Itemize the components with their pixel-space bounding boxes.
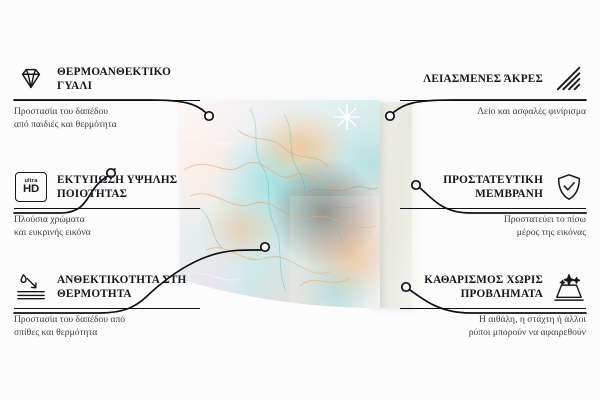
feature-title: ΑΝΘΕΚΤΙΚΟΤΗΤΑ ΣΤΗ ΘΕΡΜΟΤΗΤΑ bbox=[57, 273, 200, 301]
feature-header: ultra HD ΕΚΤΥΠΩΣΗ ΥΨΗΛΗΣ ΠΟΙΟΤΗΤΑΣ bbox=[14, 170, 200, 204]
feature-header: ΚΑΘΑΡΙΣΜΟΣ ΧΩΡΙΣ ΠΡΟΒΛΗΜΑΤΑ bbox=[400, 270, 586, 304]
feature-subtitle: Λείο και ασφαλές φινίρισμα bbox=[400, 106, 586, 119]
feature-header: ΑΝΘΕΚΤΙΚΟΤΗΤΑ ΣΤΗ ΘΕΡΜΟΤΗΤΑ bbox=[14, 270, 200, 304]
product-image bbox=[180, 100, 410, 315]
flame-deflect-icon bbox=[14, 270, 48, 304]
feature-protective-membrane[interactable]: ΠΡΟΣΤΑΤΕΥΤΙΚΗ ΜΕΜΒΡΑΝΗ Προστατεύει το πί… bbox=[400, 170, 586, 240]
feature-subtitle: Προστασία του δαπέδου από σπίθες και θερ… bbox=[14, 314, 200, 340]
shield-check-icon bbox=[552, 170, 586, 204]
feature-divider bbox=[400, 100, 586, 101]
feature-divider bbox=[14, 208, 200, 209]
feature-heat-resistant-glass[interactable]: ΘΕΡΜΟΑΝΘΕΚΤΙΚΟ ΓΥΑΛΙ Προστασία του δαπέδ… bbox=[14, 62, 200, 132]
sparkle-clean-icon bbox=[552, 270, 586, 304]
feature-title: ΛΕΙΑΣΜΕΝΕΣ ΆΚΡΕΣ bbox=[400, 72, 543, 86]
feature-header: ΘΕΡΜΟΑΝΘΕΚΤΙΚΟ ΓΥΑΛΙ bbox=[14, 62, 200, 96]
feature-title: ΠΡΟΣΤΑΤΕΥΤΙΚΗ ΜΕΜΒΡΑΝΗ bbox=[400, 173, 543, 201]
feature-easy-cleaning[interactable]: ΚΑΘΑΡΙΣΜΟΣ ΧΩΡΙΣ ΠΡΟΒΛΗΜΑΤΑ Η αιθάλη, η … bbox=[400, 270, 586, 340]
feature-polished-edges[interactable]: ΛΕΙΑΣΜΕΝΕΣ ΆΚΡΕΣ Λείο και ασφαλές φινίρι… bbox=[400, 62, 586, 119]
feature-title: ΘΕΡΜΟΑΝΘΕΚΤΙΚΟ ΓΥΑΛΙ bbox=[57, 65, 200, 93]
feature-divider bbox=[400, 208, 586, 209]
polished-edges-icon bbox=[552, 62, 586, 96]
feature-divider bbox=[400, 308, 586, 309]
infographic-canvas: ΘΕΡΜΟΑΝΘΕΚΤΙΚΟ ΓΥΑΛΙ Προστασία του δαπέδ… bbox=[0, 0, 600, 400]
feature-subtitle: Προστασία του δαπέδου από παιδιές και θε… bbox=[14, 106, 200, 132]
marble-veins bbox=[180, 100, 380, 308]
feature-header: ΠΡΟΣΤΑΤΕΥΤΙΚΗ ΜΕΜΒΡΑΝΗ bbox=[400, 170, 586, 204]
feature-heat-durability[interactable]: ΑΝΘΕΚΤΙΚΟΤΗΤΑ ΣΤΗ ΘΕΡΜΟΤΗΤΑ Προστασία το… bbox=[14, 270, 200, 340]
feature-divider bbox=[14, 308, 200, 309]
feature-subtitle: Προστατεύει το πίσω μέρος της εικόνας bbox=[400, 214, 586, 240]
diamond-icon bbox=[14, 62, 48, 96]
feature-divider bbox=[14, 100, 200, 101]
feature-title: ΚΑΘΑΡΙΣΜΟΣ ΧΩΡΙΣ ΠΡΟΒΛΗΜΑΤΑ bbox=[400, 273, 543, 301]
feature-high-quality-print[interactable]: ultra HD ΕΚΤΥΠΩΣΗ ΥΨΗΛΗΣ ΠΟΙΟΤΗΤΑΣ Πλούσ… bbox=[14, 170, 200, 240]
feature-subtitle: Πλούσια χρώματα και ευκρινής εικόνα bbox=[14, 214, 200, 240]
ultra-hd-icon: ultra HD bbox=[14, 170, 48, 204]
ultra-hd-badge-bottom: HD bbox=[23, 184, 39, 195]
glass-panel bbox=[180, 100, 380, 308]
feature-title: ΕΚΤΥΠΩΣΗ ΥΨΗΛΗΣ ΠΟΙΟΤΗΤΑΣ bbox=[57, 173, 200, 201]
feature-subtitle: Η αιθάλη, η στάχτη ή άλλοι ρύποι μπορούν… bbox=[400, 314, 586, 340]
feature-header: ΛΕΙΑΣΜΕΝΕΣ ΆΚΡΕΣ bbox=[400, 62, 586, 96]
